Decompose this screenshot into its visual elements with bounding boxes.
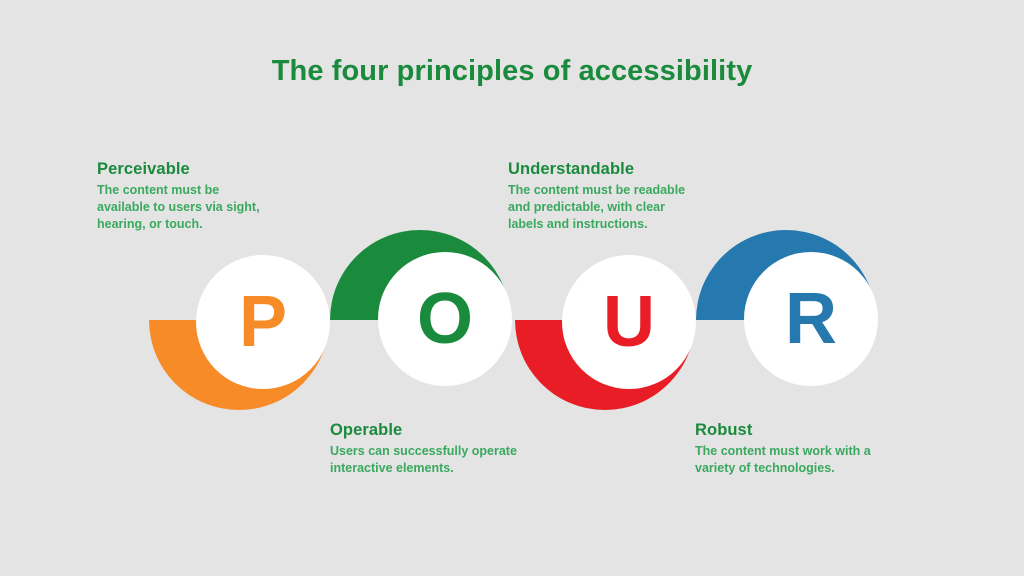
callout-line-1: Users can successfully operate <box>330 444 517 458</box>
letter-p: P <box>196 255 330 389</box>
callout-title-understandable: Understandable <box>508 160 728 179</box>
callout-line-2: variety of technologies. <box>695 461 835 475</box>
callout-title-perceivable: Perceivable <box>97 160 317 179</box>
callout-line-1: The content must be readable <box>508 183 685 197</box>
callout-title-operable: Operable <box>330 421 550 440</box>
callout-description-perceivable: The content must be available to users v… <box>97 182 317 233</box>
callout-description-understandable: The content must be readable and predict… <box>508 182 728 233</box>
callout-understandable: Understandable The content must be reada… <box>508 160 728 233</box>
callout-robust: Robust The content must work with a vari… <box>695 421 915 477</box>
letter-disc-understandable: U <box>562 255 696 389</box>
callout-line-2: interactive elements. <box>330 461 454 475</box>
callout-operable: Operable Users can successfully operate … <box>330 421 550 477</box>
callout-line-3: hearing, or touch. <box>97 217 203 231</box>
letter-disc-perceivable: P <box>196 255 330 389</box>
letter-disc-robust: R <box>744 252 878 386</box>
callout-line-1: The content must be <box>97 183 219 197</box>
callout-line-2: and predictable, with clear <box>508 200 665 214</box>
callout-description-robust: The content must work with a variety of … <box>695 443 915 477</box>
callout-description-operable: Users can successfully operate interacti… <box>330 443 550 477</box>
callout-line-1: The content must work with a <box>695 444 871 458</box>
callout-perceivable: Perceivable The content must be availabl… <box>97 160 317 233</box>
letter-o: O <box>378 252 512 386</box>
letter-disc-operable: O <box>378 252 512 386</box>
letter-r: R <box>744 252 878 386</box>
letter-u: U <box>562 255 696 389</box>
callout-line-3: labels and instructions. <box>508 217 648 231</box>
callout-title-robust: Robust <box>695 421 915 440</box>
pour-diagram: P O U R <box>0 0 1024 576</box>
slide-canvas: The four principles of accessibility P O… <box>0 0 1024 576</box>
callout-line-2: available to users via sight, <box>97 200 260 214</box>
